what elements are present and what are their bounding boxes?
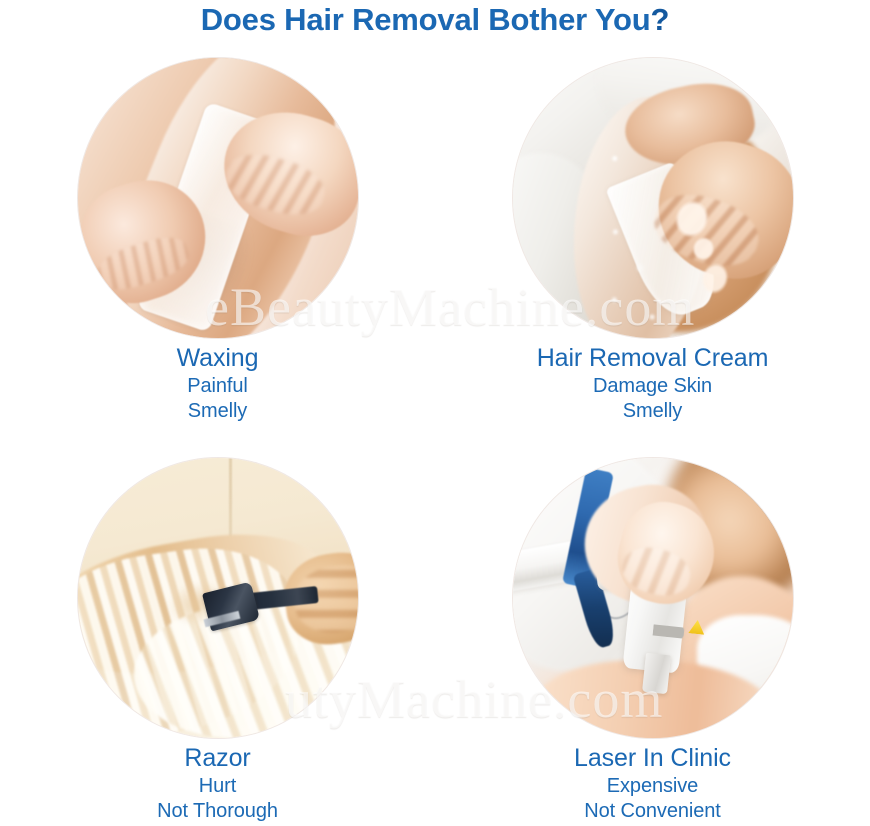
- method-card-razor: Razor Hurt Not Thorough: [0, 448, 435, 826]
- methods-grid: Waxing Painful Smelly Hair Removal Cream…: [0, 48, 870, 826]
- hair-removal-cream-photo-wrap: [513, 58, 793, 338]
- laser-in-clinic-photo-wrap: [513, 458, 793, 738]
- page-title-text: Does Hair Removal Bother You: [201, 2, 651, 37]
- method-drawback: Not Convenient: [435, 799, 870, 824]
- method-drawback: Not Thorough: [0, 799, 435, 824]
- page-title: Does Hair Removal Bother You?: [0, 2, 870, 38]
- page-title-question-mark: ?: [651, 2, 670, 37]
- razor-photo-wrap: [78, 458, 358, 738]
- tile-grout-line-horizontal: [128, 458, 289, 461]
- method-drawback: Painful: [0, 374, 435, 399]
- method-card-laser-in-clinic: Laser In Clinic Expensive Not Convenient: [435, 448, 870, 826]
- hair-removal-cream-photo: [513, 58, 793, 338]
- razor-photo: [78, 458, 358, 738]
- method-name: Razor: [0, 744, 435, 774]
- method-name: Laser In Clinic: [435, 744, 870, 774]
- method-drawback: Damage Skin: [435, 374, 870, 399]
- method-drawback: Smelly: [0, 399, 435, 424]
- method-name: Hair Removal Cream: [435, 344, 870, 374]
- laser-in-clinic-labels: Laser In Clinic Expensive Not Convenient: [435, 744, 870, 824]
- handpiece-tip: [642, 653, 671, 695]
- laser-in-clinic-photo: [513, 458, 793, 738]
- method-drawback: Smelly: [435, 399, 870, 424]
- hair-removal-cream-labels: Hair Removal Cream Damage Skin Smelly: [435, 344, 870, 424]
- waxing-labels: Waxing Painful Smelly: [0, 344, 435, 424]
- method-card-waxing: Waxing Painful Smelly: [0, 48, 435, 446]
- method-name: Waxing: [0, 344, 435, 374]
- waxing-photo: [78, 58, 358, 338]
- method-card-hair-removal-cream: Hair Removal Cream Damage Skin Smelly: [435, 48, 870, 446]
- method-drawback: Expensive: [435, 774, 870, 799]
- method-drawback: Hurt: [0, 774, 435, 799]
- razor-labels: Razor Hurt Not Thorough: [0, 744, 435, 824]
- waxing-photo-wrap: [78, 58, 358, 338]
